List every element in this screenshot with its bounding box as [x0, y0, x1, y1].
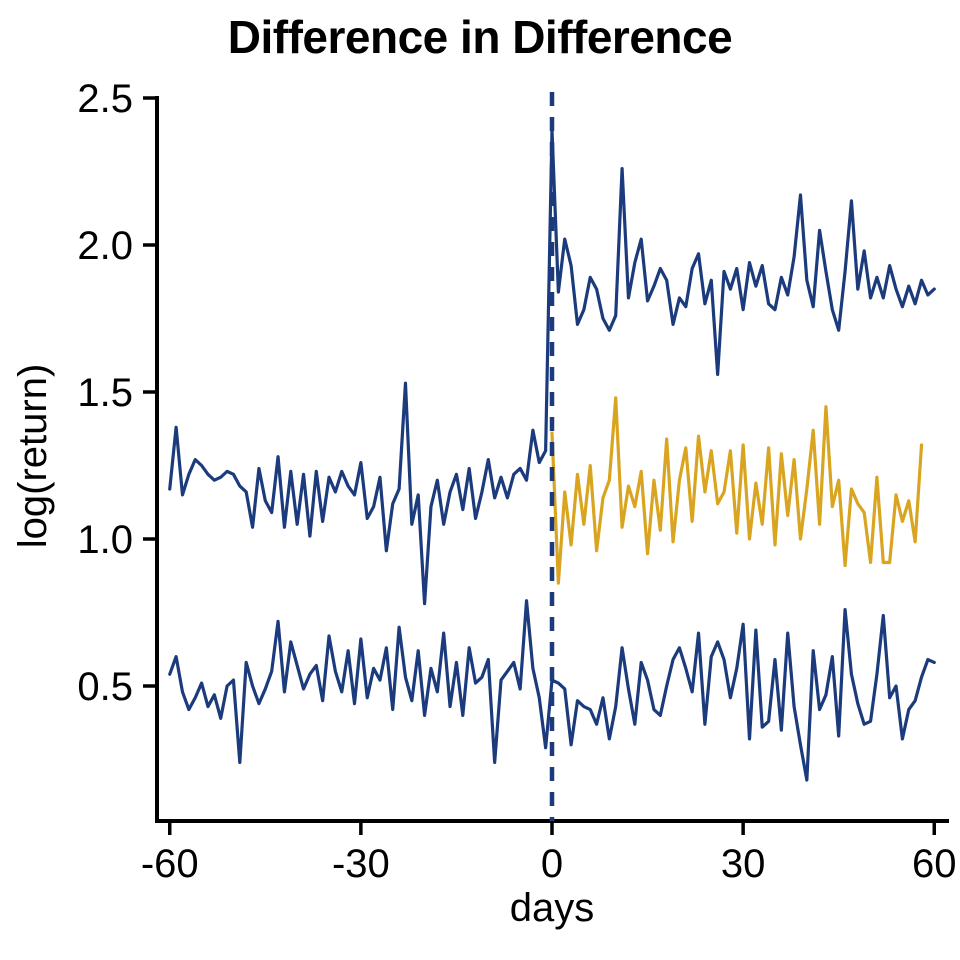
y-tick-label: 2.0	[77, 224, 133, 268]
x-axis-title: days	[510, 886, 595, 930]
x-tick-label: 0	[541, 842, 563, 886]
x-tick-marks	[170, 821, 935, 835]
y-axis-group: 0.51.01.52.02.5	[77, 77, 157, 821]
y-tick-labels: 0.51.01.52.02.5	[77, 77, 133, 709]
y-axis-title: log(return)	[11, 364, 55, 549]
chart-page: Difference in Difference 0.51.01.52.02.5…	[0, 0, 960, 960]
x-tick-labels: -60-3003060	[141, 842, 957, 886]
difference-in-difference-plot: 0.51.01.52.02.5 -60-3003060 days log(ret…	[0, 0, 960, 960]
series-control-post	[552, 398, 922, 583]
x-tick-label: -30	[332, 842, 390, 886]
y-tick-label: 2.5	[77, 77, 133, 121]
x-tick-label: 60	[912, 842, 957, 886]
x-axis-group: -60-3003060	[141, 821, 957, 886]
y-tick-label: 1.0	[77, 518, 133, 562]
x-tick-label: -60	[141, 842, 199, 886]
x-tick-label: 30	[721, 842, 766, 886]
y-tick-marks	[143, 98, 157, 686]
y-tick-label: 1.5	[77, 371, 133, 415]
y-tick-label: 0.5	[77, 665, 133, 709]
